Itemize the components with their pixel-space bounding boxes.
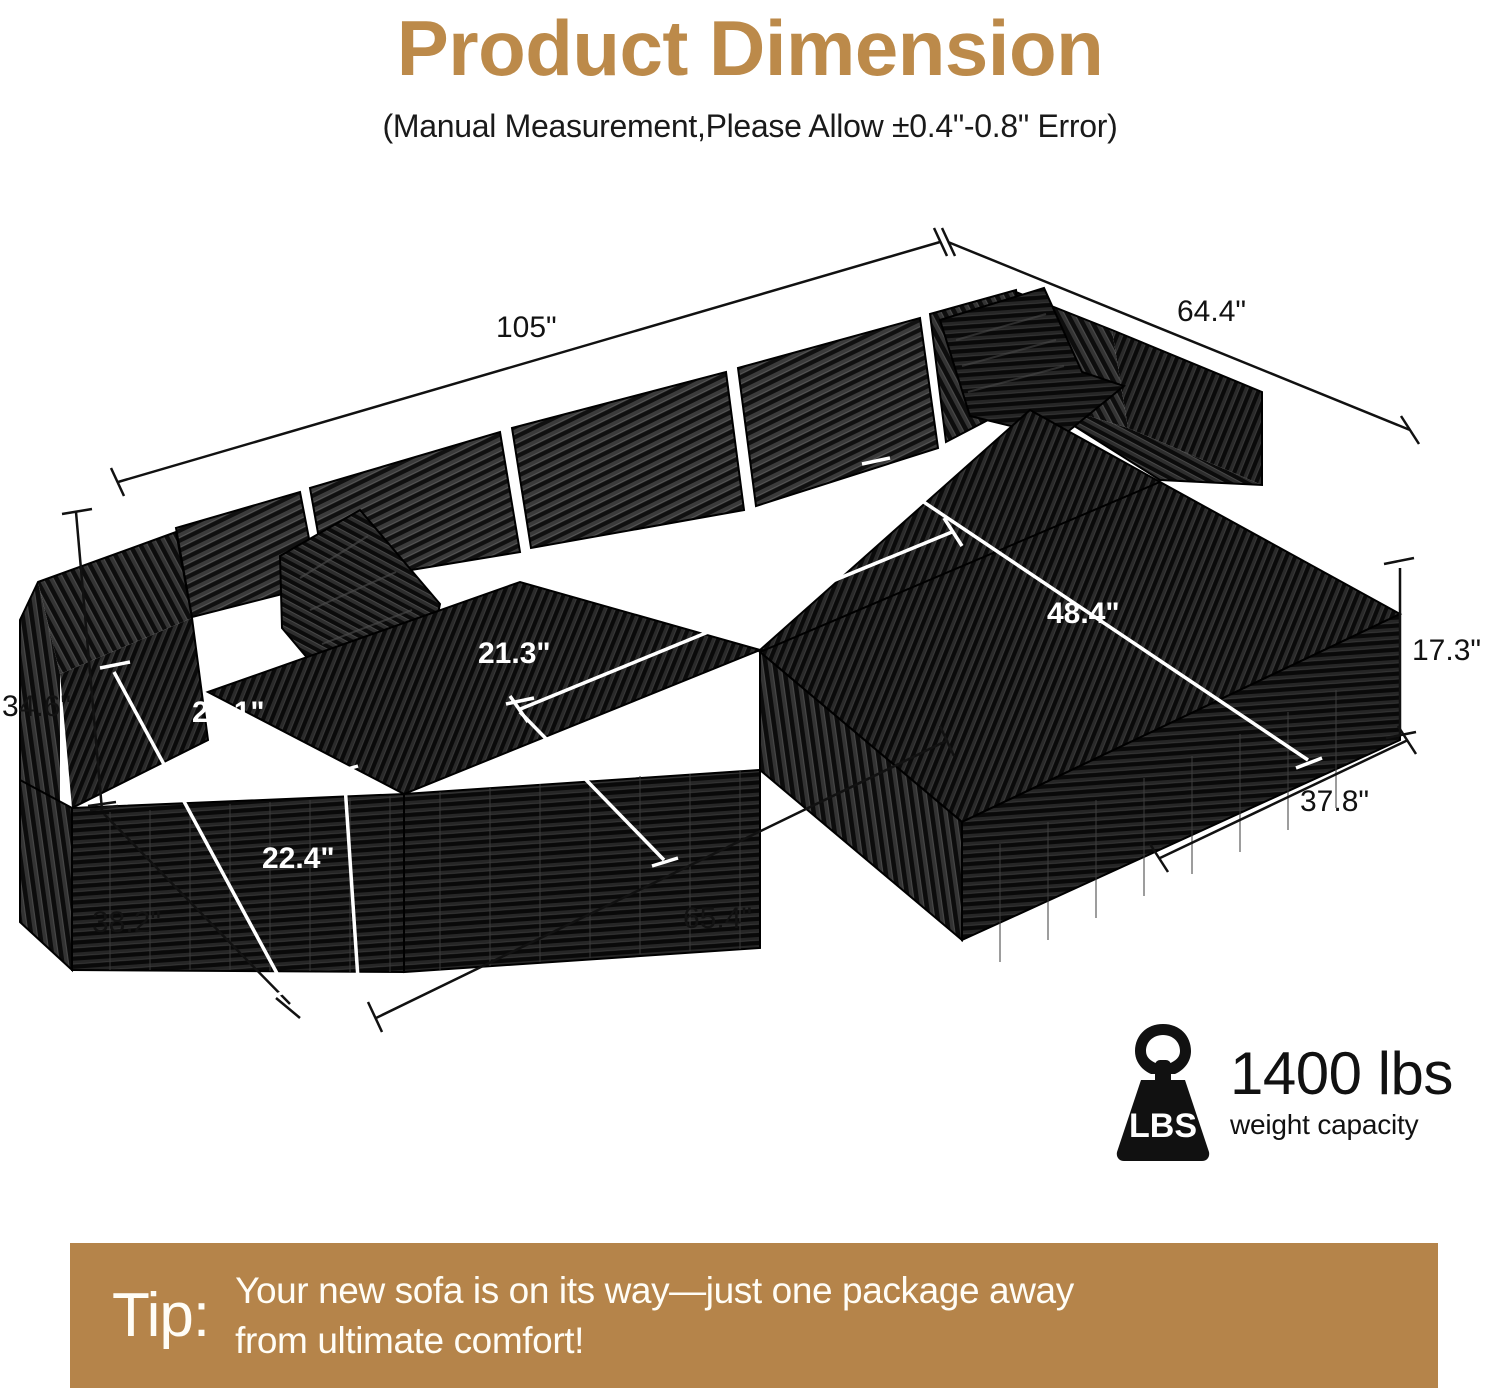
dimension-label-overall-width: 38.2"	[92, 906, 161, 940]
dimension-label-seat-depth: 21.3"	[478, 637, 551, 671]
dimension-label-base-length: 65.4"	[683, 902, 752, 936]
dimension-label-seat-length: 85.6"	[748, 550, 821, 584]
dimension-label-seat-height-right: 17.3"	[1412, 634, 1481, 668]
chaise-section	[760, 482, 1400, 962]
dimension-label-chaise-width: 37.8"	[1300, 785, 1369, 819]
tip-banner: Tip: Your new sofa is on its way—just on…	[70, 1243, 1438, 1388]
dimension-label-overall-length: 105"	[496, 311, 557, 345]
dimension-label-overall-height: 34.6"	[2, 690, 71, 724]
measurement-disclaimer: (Manual Measurement,Please Allow ±0.4"-0…	[0, 104, 1500, 148]
product-dimension-infographic: Product Dimension (Manual Measurement,Pl…	[0, 0, 1500, 1394]
weight-capacity-badge: LBS 1400 lbs weight capacity	[1108, 1012, 1468, 1172]
tip-message-line-2: from ultimate comfort!	[235, 1316, 1074, 1366]
dimension-label-arm-seat-width: 28.1"	[192, 696, 265, 730]
sofa-base	[20, 770, 760, 972]
back-cushion-4	[738, 318, 938, 506]
tip-message: Your new sofa is on its way—just one pac…	[235, 1266, 1074, 1366]
dimension-label-seat-back-height: 22.4"	[262, 842, 335, 876]
tip-message-line-1: Your new sofa is on its way—just one pac…	[235, 1266, 1074, 1316]
weight-icon-label: LBS	[1129, 1107, 1197, 1145]
weight-icon: LBS	[1108, 1020, 1218, 1165]
weight-caption: weight capacity	[1230, 1108, 1453, 1142]
page-title: Product Dimension	[0, 2, 1500, 94]
weight-value: 1400 lbs	[1230, 1042, 1453, 1106]
weight-text-group: 1400 lbs weight capacity	[1230, 1042, 1453, 1142]
back-cushion-3	[512, 372, 744, 548]
tip-label: Tip:	[112, 1283, 209, 1349]
dimension-label-chaise-length: 48.4"	[1047, 597, 1120, 631]
dimension-label-overall-depth: 64.4"	[1177, 295, 1246, 329]
left-armrest	[20, 532, 208, 820]
